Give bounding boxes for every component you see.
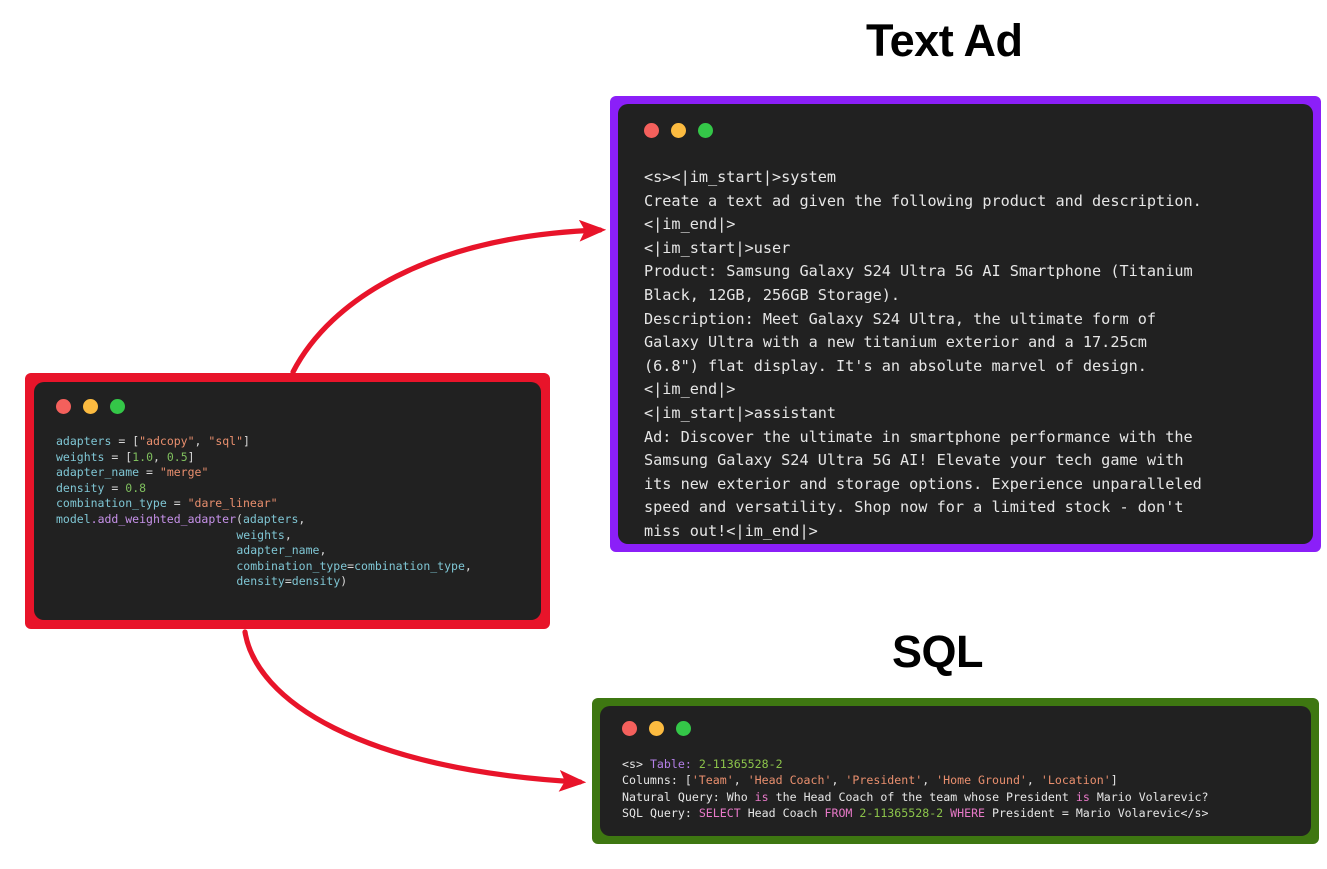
minimize-icon[interactable] bbox=[83, 399, 98, 414]
text-ad-sample-window: <s><|im_start|>system Create a text ad g… bbox=[610, 96, 1321, 552]
text-ad-sample-text: <s><|im_start|>system Create a text ad g… bbox=[644, 166, 1202, 544]
heading-sql: SQL bbox=[892, 629, 983, 674]
arrow-merge-to-sql bbox=[245, 632, 580, 782]
sql-sample-text: <s> Table: 2-11365528-2 Columns: ['Team'… bbox=[622, 756, 1209, 822]
arrow-merge-to-text-ad bbox=[293, 230, 600, 372]
minimize-icon[interactable] bbox=[649, 721, 664, 736]
window-controls-text-ad bbox=[644, 123, 713, 138]
close-icon[interactable] bbox=[644, 123, 659, 138]
close-icon[interactable] bbox=[622, 721, 637, 736]
merge-code-window-body: adapters = ["adcopy", "sql"] weights = [… bbox=[34, 382, 541, 620]
text-ad-sample-window-body: <s><|im_start|>system Create a text ad g… bbox=[618, 104, 1313, 544]
maximize-icon[interactable] bbox=[698, 123, 713, 138]
merge-code-window: adapters = ["adcopy", "sql"] weights = [… bbox=[25, 373, 550, 629]
merge-code-block: adapters = ["adcopy", "sql"] weights = [… bbox=[56, 434, 472, 590]
window-controls-merge bbox=[56, 399, 125, 414]
maximize-icon[interactable] bbox=[110, 399, 125, 414]
minimize-icon[interactable] bbox=[671, 123, 686, 138]
diagram-canvas: Text Ad SQL adapters = ["adcopy", "sql"]… bbox=[0, 0, 1327, 869]
heading-text-ad: Text Ad bbox=[866, 18, 1023, 63]
close-icon[interactable] bbox=[56, 399, 71, 414]
maximize-icon[interactable] bbox=[676, 721, 691, 736]
sql-sample-window-body: <s> Table: 2-11365528-2 Columns: ['Team'… bbox=[600, 706, 1311, 836]
window-controls-sql bbox=[622, 721, 691, 736]
sql-sample-window: <s> Table: 2-11365528-2 Columns: ['Team'… bbox=[592, 698, 1319, 844]
